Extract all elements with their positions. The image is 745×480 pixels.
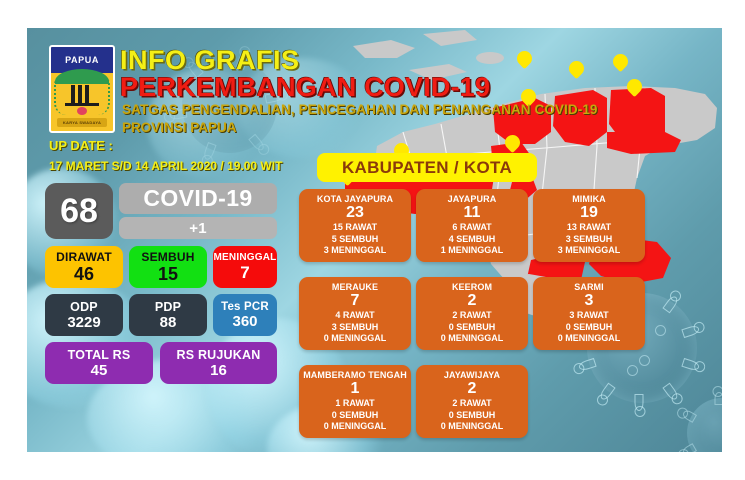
region-sembuh: 3 SEMBUH	[332, 322, 379, 333]
region-meninggal: 3 MENINGGAL	[558, 245, 621, 256]
infographic-canvas: PAPUA KARYA SWADAYA INFO GRAFIS PERKEMBA…	[27, 28, 722, 452]
covid-label-box: COVID-19	[119, 183, 277, 214]
region-sembuh: 5 SEMBUH	[332, 234, 379, 245]
stat-label-total-rs: TOTAL RS	[68, 348, 131, 362]
stat-box-dirawat: DIRAWAT 46	[45, 246, 123, 288]
region-card: KOTA JAYAPURA 23 15 RAWAT 5 SEMBUH 3 MEN…	[299, 189, 411, 262]
region-rawat: 2 RAWAT	[452, 398, 491, 409]
region-total: 11	[464, 204, 481, 222]
region-card: KEEROM 2 2 RAWAT 0 SEMBUH 0 MENINGGAL	[416, 277, 528, 350]
stat-box-meninggal: MENINGGAL 7	[213, 246, 277, 288]
region-card: SARMI 3 3 RAWAT 0 SEMBUH 0 MENINGGAL	[533, 277, 645, 350]
region-sembuh: 4 SEMBUH	[449, 234, 496, 245]
region-card: MIMIKA 19 13 RAWAT 3 SEMBUH 3 MENINGGAL	[533, 189, 645, 262]
region-sembuh: 0 SEMBUH	[566, 322, 613, 333]
region-sembuh: 0 SEMBUH	[449, 410, 496, 421]
region-total: 2	[468, 380, 477, 398]
covid-label-text: COVID-19	[143, 185, 252, 212]
region-name: JAYAPURA	[448, 194, 497, 204]
regions-banner-title: KABUPATEN / KOTA	[342, 158, 512, 178]
emblem-banner-text: PAPUA	[65, 55, 99, 65]
region-sembuh: 3 SEMBUH	[566, 234, 613, 245]
papua-emblem-logo: PAPUA KARYA SWADAYA	[49, 45, 115, 133]
stat-label-dirawat: DIRAWAT	[56, 250, 112, 264]
region-name: KEEROM	[452, 282, 492, 292]
stat-label-pdp: PDP	[155, 300, 181, 314]
stat-box-pdp: PDP 88	[129, 294, 207, 336]
emblem-laurel-left-icon	[54, 73, 66, 115]
region-total: 1	[351, 380, 360, 398]
stat-box-tes-pcr: Tes PCR 360	[213, 294, 277, 336]
region-meninggal: 0 MENINGGAL	[441, 333, 504, 344]
stat-label-sembuh: SEMBUH	[141, 250, 194, 264]
region-rawat: 4 RAWAT	[335, 310, 374, 321]
emblem-ribbon-text: KARYA SWADAYA	[57, 118, 107, 127]
stat-box-rs-rujukan: RS RUJUKAN 16	[160, 342, 277, 384]
region-meninggal: 3 MENINGGAL	[324, 245, 387, 256]
stat-label-tes-pcr: Tes PCR	[221, 301, 269, 313]
virus-illustration-small	[687, 398, 722, 452]
stat-value-odp: 3229	[67, 314, 100, 331]
region-meninggal: 0 MENINGGAL	[441, 421, 504, 432]
region-rawat: 2 RAWAT	[452, 310, 491, 321]
page-title-line2: PERKEMBANGAN COVID-19	[120, 72, 490, 103]
stat-value-dirawat: 46	[74, 264, 94, 285]
stat-value-pdp: 88	[160, 314, 177, 331]
stat-label-meninggal: MENINGGAL	[214, 252, 277, 263]
region-total: 3	[585, 292, 594, 310]
region-rawat: 6 RAWAT	[452, 222, 491, 233]
update-value: 17 MARET S/D 14 APRIL 2020 / 19.00 WIT	[49, 159, 282, 173]
emblem-pillars-icon	[71, 85, 94, 103]
region-rawat: 3 RAWAT	[569, 310, 608, 321]
page-subtitle-line2: PROVINSI PAPUA	[122, 120, 237, 135]
region-rawat: 13 RAWAT	[567, 222, 611, 233]
stat-box-sembuh: SEMBUH 15	[129, 246, 207, 288]
region-meninggal: 0 MENINGGAL	[558, 333, 621, 344]
stat-box-odp: ODP 3229	[45, 294, 123, 336]
region-name: MAMBERAMO TENGAH	[303, 370, 407, 380]
region-card: MERAUKE 7 4 RAWAT 3 SEMBUH 0 MENINGGAL	[299, 277, 411, 350]
regions-banner: KABUPATEN / KOTA	[317, 153, 537, 182]
emblem-laurel-right-icon	[98, 73, 110, 115]
region-total: 7	[351, 292, 360, 310]
stat-box-total-rs: TOTAL RS 45	[45, 342, 153, 384]
stat-value-sembuh: 15	[158, 264, 178, 285]
region-sembuh: 0 SEMBUH	[449, 322, 496, 333]
stat-label-odp: ODP	[70, 300, 98, 314]
page-subtitle-line1: SATGAS PENGENDALIAN, PENCEGAHAN DAN PENA…	[122, 102, 598, 117]
region-rawat: 15 RAWAT	[333, 222, 377, 233]
stat-value-rs-rujukan: 16	[210, 362, 227, 379]
covid-delta-text: +1	[189, 220, 207, 237]
region-name: KOTA JAYAPURA	[317, 194, 393, 204]
region-total: 23	[346, 204, 364, 222]
region-name: SARMI	[574, 282, 604, 292]
region-meninggal: 0 MENINGGAL	[324, 333, 387, 344]
stat-label-rs-rujukan: RS RUJUKAN	[177, 348, 261, 362]
stat-value-meninggal: 7	[240, 263, 249, 283]
stat-value-total-rs: 45	[91, 362, 108, 379]
total-cases-value: 68	[60, 192, 98, 231]
region-total: 2	[468, 292, 477, 310]
region-total: 19	[580, 204, 598, 222]
region-rawat: 1 RAWAT	[335, 398, 374, 409]
emblem-base-icon	[65, 103, 99, 106]
covid-delta-box: +1	[119, 217, 277, 239]
region-card: JAYAWIJAYA 2 2 RAWAT 0 SEMBUH 0 MENINGGA…	[416, 365, 528, 438]
region-card: JAYAPURA 11 6 RAWAT 4 SEMBUH 1 MENINGGAL	[416, 189, 528, 262]
region-name: MIMIKA	[572, 194, 606, 204]
region-meninggal: 0 MENINGGAL	[324, 421, 387, 432]
region-card: MAMBERAMO TENGAH 1 1 RAWAT 0 SEMBUH 0 ME…	[299, 365, 411, 438]
total-cases-box: 68	[45, 183, 113, 239]
emblem-flower-icon	[77, 107, 87, 115]
region-meninggal: 1 MENINGGAL	[441, 245, 504, 256]
update-label: UP DATE :	[49, 138, 113, 153]
stat-value-tes-pcr: 360	[232, 313, 257, 330]
region-name: MERAUKE	[332, 282, 378, 292]
region-name: JAYAWIJAYA	[444, 370, 500, 380]
region-sembuh: 0 SEMBUH	[332, 410, 379, 421]
